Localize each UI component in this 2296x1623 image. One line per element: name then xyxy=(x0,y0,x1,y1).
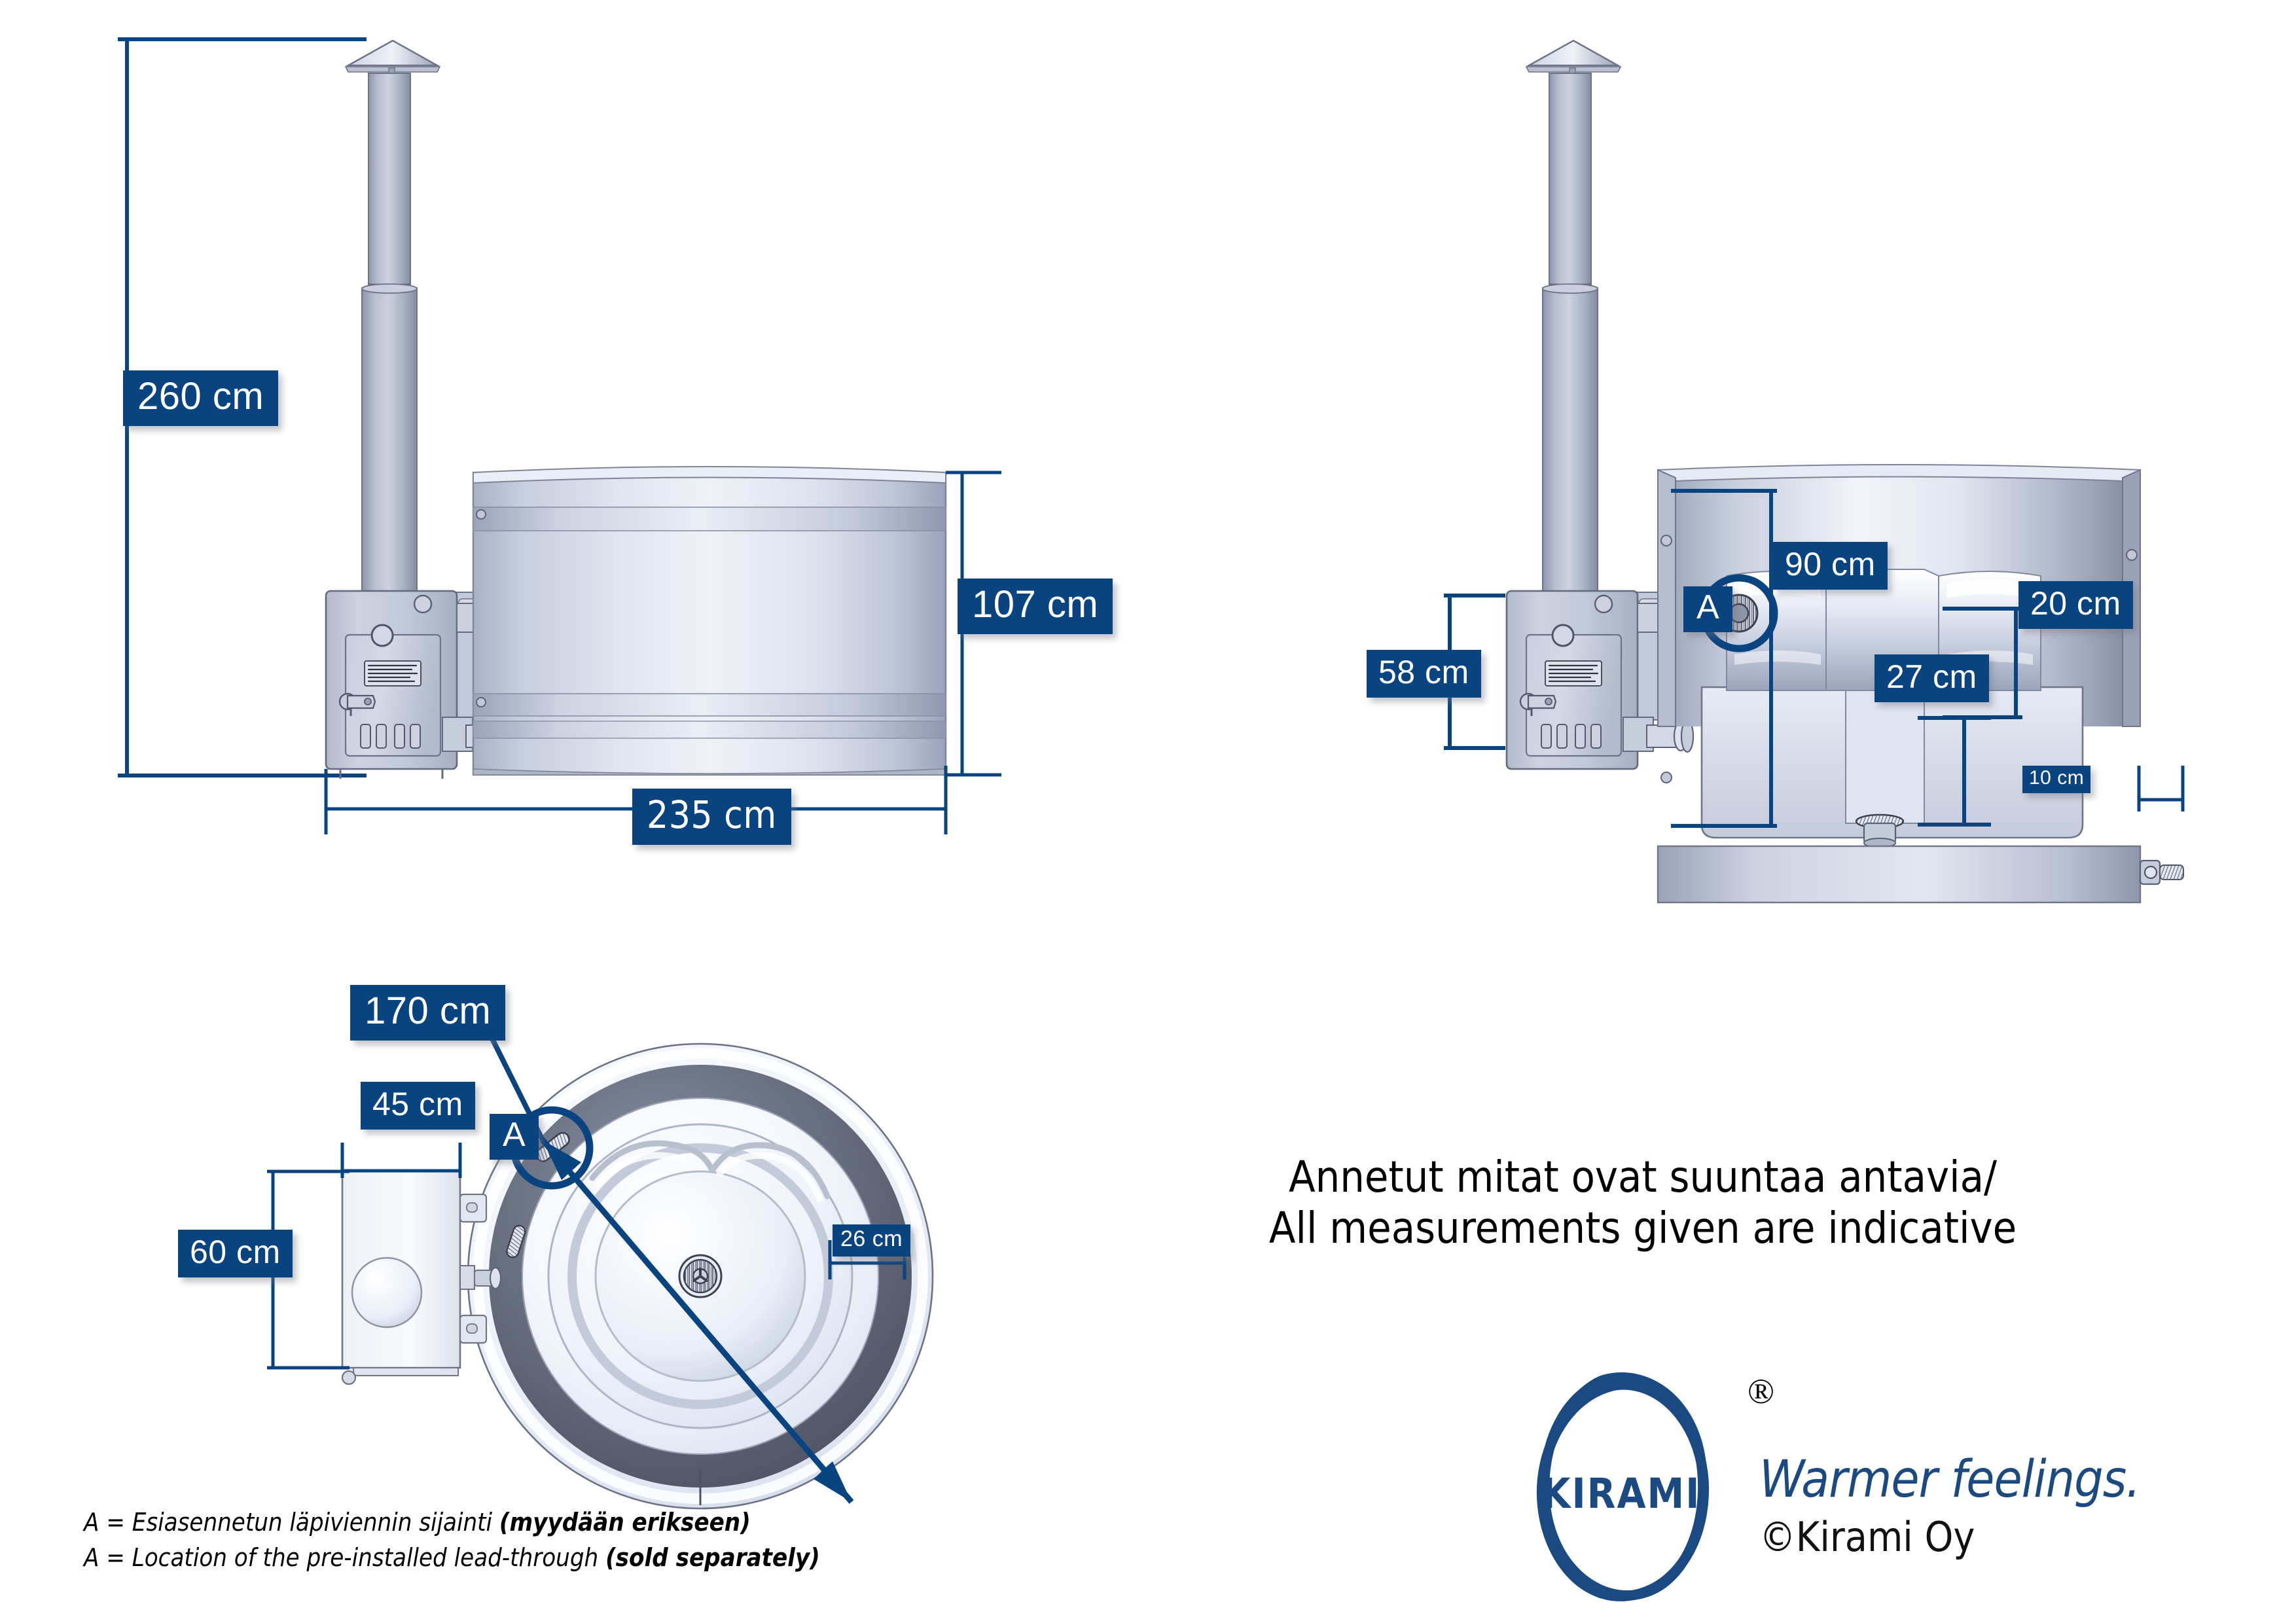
dimension-label-26: 26 cm xyxy=(833,1224,910,1257)
drain-valve xyxy=(2140,861,2183,884)
legend-block: A = Esiasennetun läpiviennin sijainti (m… xyxy=(84,1505,820,1576)
dimension-label-90: 90 cm xyxy=(1773,542,1888,590)
measurement-note-fi: Annetut mitat ovat suuntaa antavia/ xyxy=(1155,1152,2130,1203)
dimension-label-20: 20 cm xyxy=(2018,581,2133,629)
measurement-note-en: All measurements given are indicative xyxy=(1155,1203,2130,1254)
dimension-label-10: 10 cm xyxy=(2022,766,2090,793)
legend-line-en: A = Location of the pre-installed lead-t… xyxy=(84,1541,820,1576)
kirami-logo-loops-icon xyxy=(1525,1368,1741,1584)
dimension-label-170: 170 cm xyxy=(350,985,505,1041)
dimension-label-45: 45 cm xyxy=(361,1082,475,1130)
heater-unit-top xyxy=(342,1171,501,1384)
drawing-canvas: KIRAMI 260 cm 107 cm 235 cm 90 cm 20 cm … xyxy=(0,0,2296,1623)
marker-label-A-section: A xyxy=(1683,586,1732,632)
kirami-logo-text: Warmer feelings. ©Kirami Oy xyxy=(1759,1368,2140,1561)
brand-tagline: Warmer feelings. xyxy=(1759,1454,2140,1505)
dimension-label-27: 27 cm xyxy=(1874,654,1989,702)
dimension-label-260: 260 cm xyxy=(123,370,278,426)
legend-en-prefix: A = Location of the pre-installed lead-t… xyxy=(84,1543,605,1572)
dimension-line-10 xyxy=(2139,766,2183,811)
dimension-label-107: 107 cm xyxy=(958,579,1113,634)
center-drain-top xyxy=(679,1255,721,1297)
dimension-label-60: 60 cm xyxy=(178,1230,293,1277)
kirami-logo: Warmer feelings. ©Kirami Oy xyxy=(1525,1368,2140,1584)
chimney-assembly xyxy=(346,41,440,596)
dimension-label-235: 235 cm xyxy=(632,789,791,845)
front-elevation-view xyxy=(118,39,1001,834)
chimney-assembly-section xyxy=(1526,41,1621,596)
legend-fi-prefix: A = Esiasennetun läpiviennin sijainti xyxy=(84,1508,499,1537)
measurement-note: Annetut mitat ovat suuntaa antavia/ All … xyxy=(1155,1152,2130,1254)
legend-line-fi: A = Esiasennetun läpiviennin sijainti (m… xyxy=(84,1505,820,1541)
brand-copyright: ©Kirami Oy xyxy=(1759,1513,2140,1561)
tub-body-front xyxy=(473,467,946,775)
legend-fi-bold: (myydään erikseen) xyxy=(499,1508,751,1537)
dimension-label-58: 58 cm xyxy=(1367,650,1481,698)
legend-en-bold: (sold separately) xyxy=(605,1543,820,1572)
marker-label-A-top: A xyxy=(490,1114,539,1160)
